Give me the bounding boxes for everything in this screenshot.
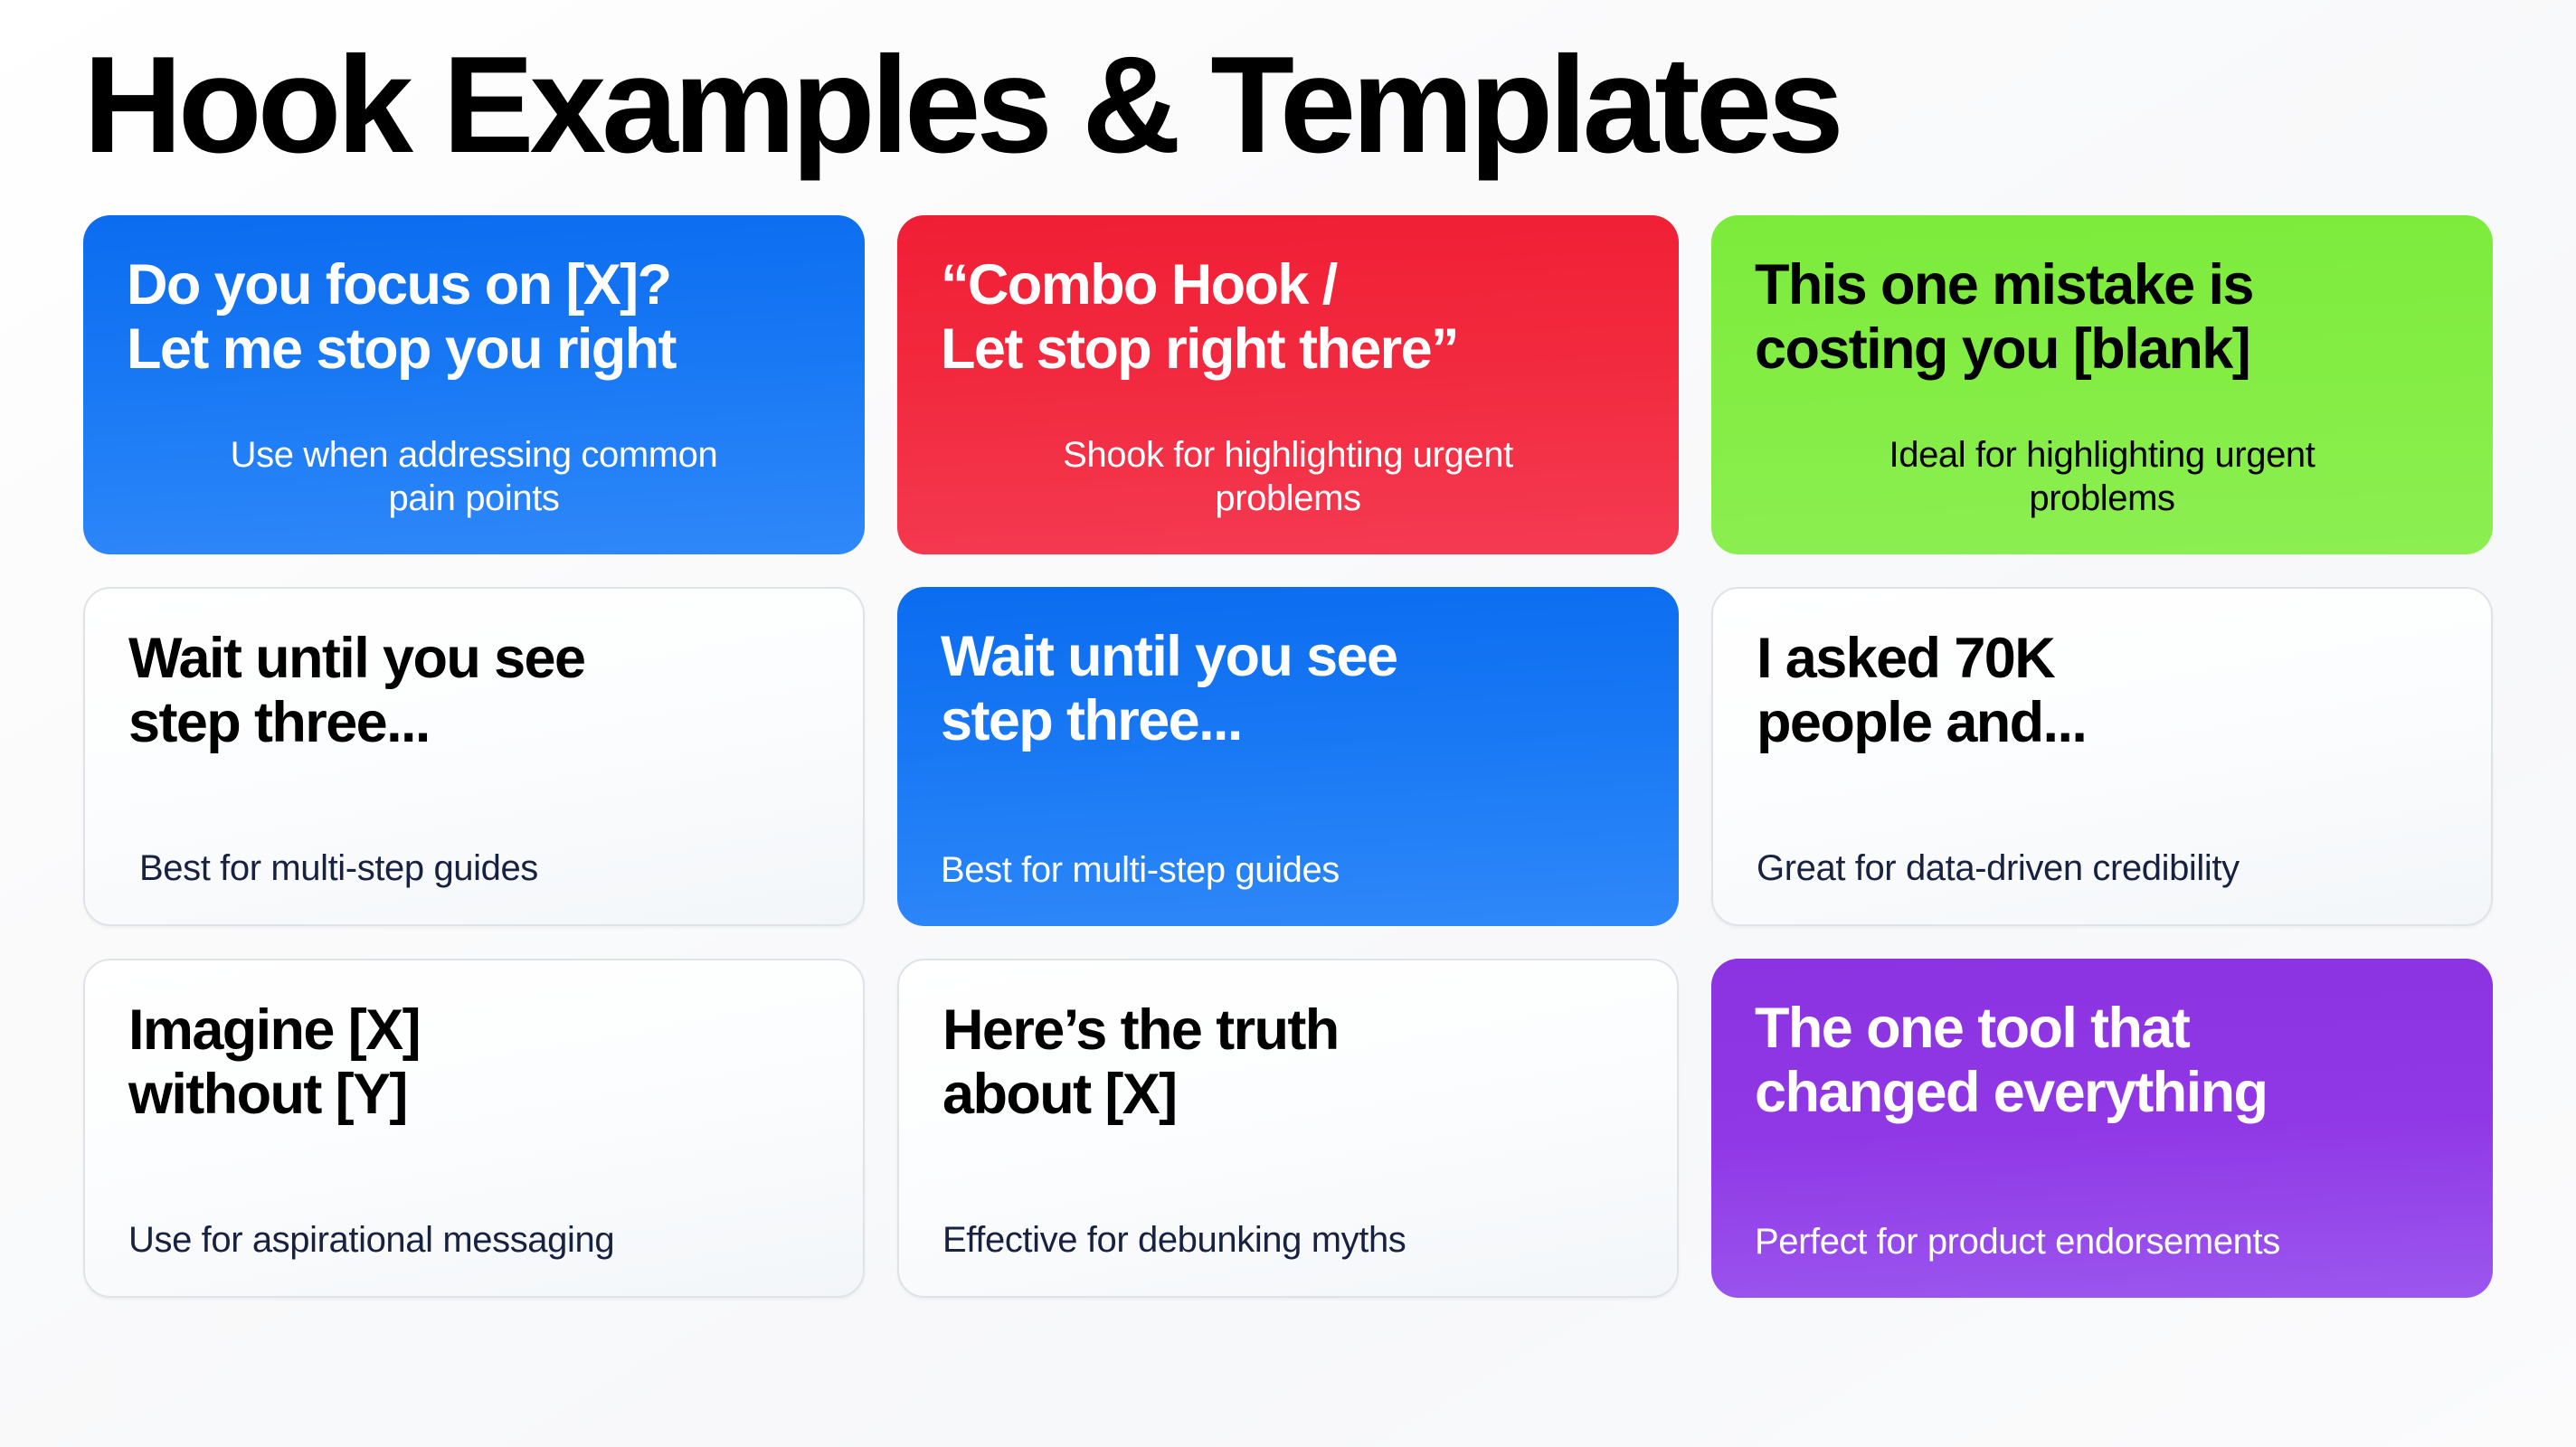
hook-card-headline: “Combo Hook / Let stop right there” [941, 253, 1635, 382]
hook-card-headline: I asked 70K people and... [1757, 627, 2448, 755]
hook-card-subtext: Best for multi-step guides [128, 846, 819, 890]
hook-card[interactable]: Do you focus on [X]? Let me stop you rig… [83, 215, 865, 554]
hook-card-headline: Imagine [X] without [Y] [128, 998, 819, 1127]
page-title: Hook Examples & Templates [83, 36, 2493, 174]
hook-card[interactable]: The one tool that changed everything Per… [1711, 959, 2493, 1298]
hook-card-headline: Do you focus on [X]? Let me stop you rig… [127, 253, 821, 382]
hook-card-subtext: Perfect for product endorsements [1755, 1220, 2449, 1263]
hook-card[interactable]: Here’s the truth about [X] Effective for… [897, 959, 1679, 1298]
hook-card-subtext: Best for multi-step guides [941, 848, 1635, 892]
hook-card-headline: This one mistake is costing you [blank] [1755, 253, 2449, 382]
hook-card[interactable]: Wait until you see step three... Best fo… [83, 587, 865, 926]
hook-card-grid: Do you focus on [X]? Let me stop you rig… [83, 215, 2493, 1298]
hook-card-subtext: Effective for debunking myths [942, 1218, 1634, 1262]
hook-card-subtext: Ideal for highlighting urgent problems [1755, 433, 2449, 520]
hook-card-subtext: Use when addressing common pain points [127, 433, 821, 520]
hook-card[interactable]: Wait until you see step three... Best fo… [897, 587, 1679, 926]
hook-card-headline: The one tool that changed everything [1755, 997, 2449, 1125]
page-root: Hook Examples & Templates Do you focus o… [0, 0, 2576, 1447]
hook-card[interactable]: This one mistake is costing you [blank] … [1711, 215, 2493, 554]
hook-card-subtext: Great for data-driven credibility [1757, 846, 2448, 890]
hook-card-headline: Wait until you see step three... [128, 627, 819, 755]
hook-card[interactable]: I asked 70K people and... Great for data… [1711, 587, 2493, 926]
hook-card-headline: Wait until you see step three... [941, 625, 1635, 753]
hook-card-subtext: Shook for highlighting urgent problems [941, 433, 1635, 520]
hook-card[interactable]: Imagine [X] without [Y] Use for aspirati… [83, 959, 865, 1298]
hook-card-headline: Here’s the truth about [X] [942, 998, 1634, 1127]
hook-card-subtext: Use for aspirational messaging [128, 1218, 819, 1262]
hook-card[interactable]: “Combo Hook / Let stop right there” Shoo… [897, 215, 1679, 554]
